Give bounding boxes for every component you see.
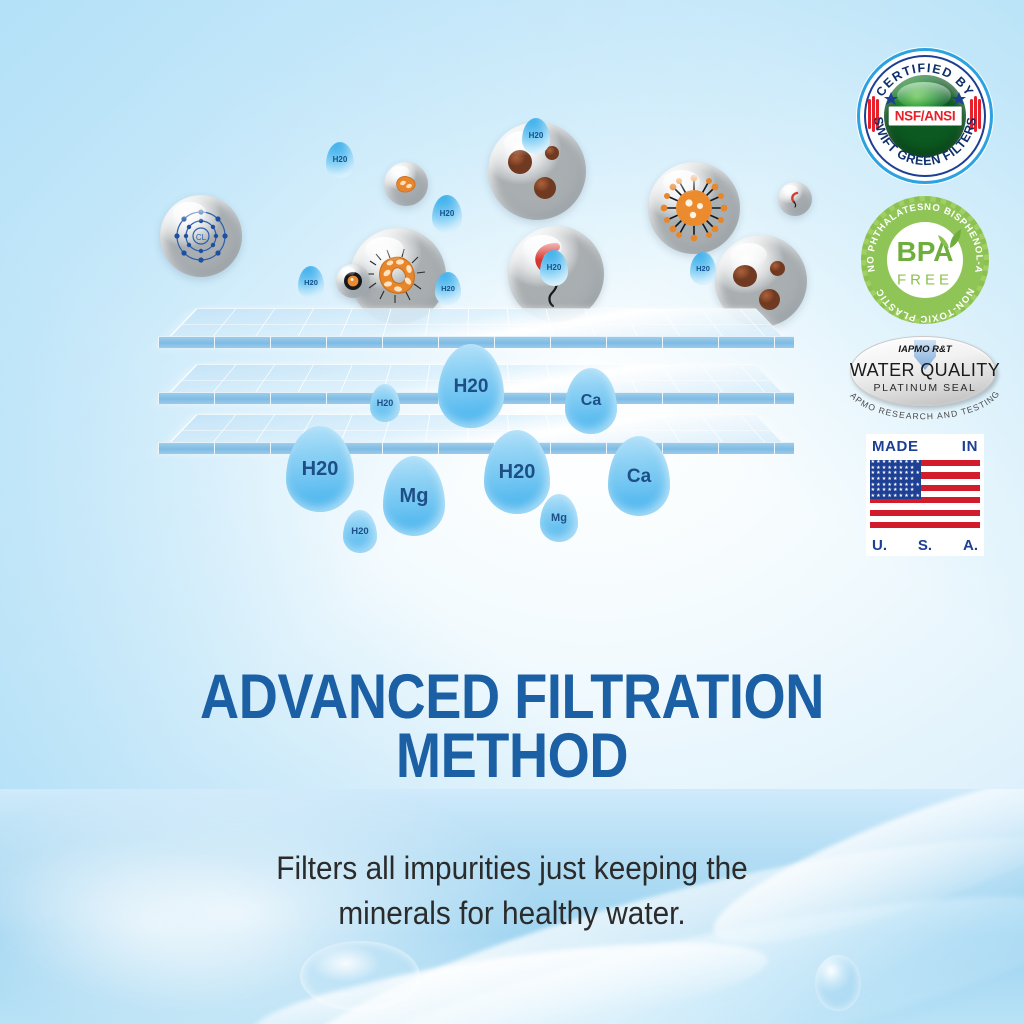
droplet-label: Ca [627, 467, 651, 486]
droplet-label: Mg [551, 513, 567, 524]
bpa-free-label: FREE [897, 272, 953, 289]
leaf-icon [937, 226, 963, 250]
usa-a-label: A. [963, 537, 978, 554]
page-title: ADVANCED FILTRATION METHOD [72, 668, 953, 786]
nsf-top-arc-label: CERTIFIED BY [873, 61, 976, 99]
water-bead [300, 941, 420, 1011]
droplet-label: H20 [441, 285, 455, 293]
droplet-label: Mg [400, 486, 429, 506]
membrane-edge [158, 442, 794, 454]
in-label: IN [962, 438, 978, 455]
poster-canvas: CL [0, 0, 1024, 1024]
droplet-label: Ca [581, 393, 601, 409]
droplet-mg-large: Mg [383, 456, 445, 536]
svg-text:NON-TOXIC PLASTIC: NON-TOXIC PLASTIC [874, 286, 976, 324]
droplet-h20: H20 [326, 142, 354, 178]
droplet-h20-small: H20 [343, 510, 377, 553]
droplet-label: H20 [499, 462, 536, 482]
usa-s-label: S. [918, 537, 932, 554]
made-in-row: MADE IN [872, 438, 978, 455]
subtitle-line-1: Filters all impurities just keeping the [36, 846, 988, 891]
virus-bubble [648, 162, 740, 254]
title-line-2: METHOD [72, 727, 953, 786]
droplet-label: H20 [333, 156, 348, 164]
droplet-label: H20 [304, 279, 318, 287]
sediment-particle [508, 150, 532, 174]
badge-nsf-ansi: CERTIFIED BY SWIFT GREEN FILTERS NSF/ANS… [845, 48, 1005, 184]
svg-text:IAPMO RESEARCH AND TESTING: IAPMO RESEARCH AND TESTING [848, 392, 1002, 421]
parasite-bubble-tiny [778, 182, 812, 216]
bpa-arc-nontoxic: NON-TOXIC PLASTIC [874, 286, 976, 324]
droplet-label: H20 [529, 132, 544, 140]
subtitle-line-2: minerals for healthy water. [36, 891, 988, 936]
usa-flag-icon: ★★★★★★★★★ ★★★★★★★★ ★★★★★★★★★ ★★★★★★★★ ★★… [870, 460, 980, 530]
droplet-h20: H20 [432, 195, 462, 233]
usa-row: U. S. A. [872, 537, 978, 554]
droplet-label: H20 [377, 399, 394, 408]
parasite-icon [785, 189, 805, 209]
badge-iapmo-water-quality: IAPMO R&T WATER QUALITY PLATINUM SEAL IA… [845, 336, 1005, 422]
iapmo-arc-text: IAPMO RESEARCH AND TESTING [848, 392, 1002, 422]
badge-bpa-free: NO PHTHALATES NO BISPHENOL-A NON-TOXIC P… [845, 196, 1005, 324]
bacteria-bubble-small [384, 162, 428, 206]
usa-u-label: U. [872, 537, 887, 554]
certification-badges: CERTIFIED BY SWIFT GREEN FILTERS NSF/ANS… [845, 48, 1005, 556]
iapmo-title-label: WATER QUALITY [850, 360, 1000, 381]
sediment-particle [534, 177, 556, 199]
droplet-label: H20 [696, 265, 710, 273]
iapmo-arc-label: IAPMO RESEARCH AND TESTING [848, 392, 1002, 421]
droplet-label: H20 [351, 527, 368, 537]
droplet-label: H20 [302, 459, 339, 479]
made-label: MADE [872, 438, 919, 455]
nsf-center-label: NSF/ANSI [889, 107, 962, 126]
iapmo-brand-label: IAPMO R&T [898, 344, 951, 355]
droplet-label: H20 [547, 264, 562, 272]
virus-icon [659, 173, 729, 243]
droplet-h20: H20 [522, 118, 550, 154]
bacteria-icon [391, 171, 421, 197]
droplet-label: H20 [454, 377, 489, 396]
droplet-mg-small: Mg [540, 494, 578, 542]
svg-text:CL: CL [196, 233, 207, 242]
flag-canton: ★★★★★★★★★ ★★★★★★★★ ★★★★★★★★★ ★★★★★★★★ ★★… [870, 460, 921, 499]
droplet-label: H20 [440, 210, 455, 218]
water-bead [815, 955, 861, 1011]
badge-made-in-usa: MADE IN ★★★★★★★★★ ★★★★★★★★ ★★★★★★★★★ ★★★… [845, 434, 1005, 556]
filtration-illustration: CL [150, 100, 810, 580]
svg-text:CERTIFIED BY: CERTIFIED BY [873, 61, 976, 99]
page-subtitle: Filters all impurities just keeping the … [36, 846, 988, 937]
